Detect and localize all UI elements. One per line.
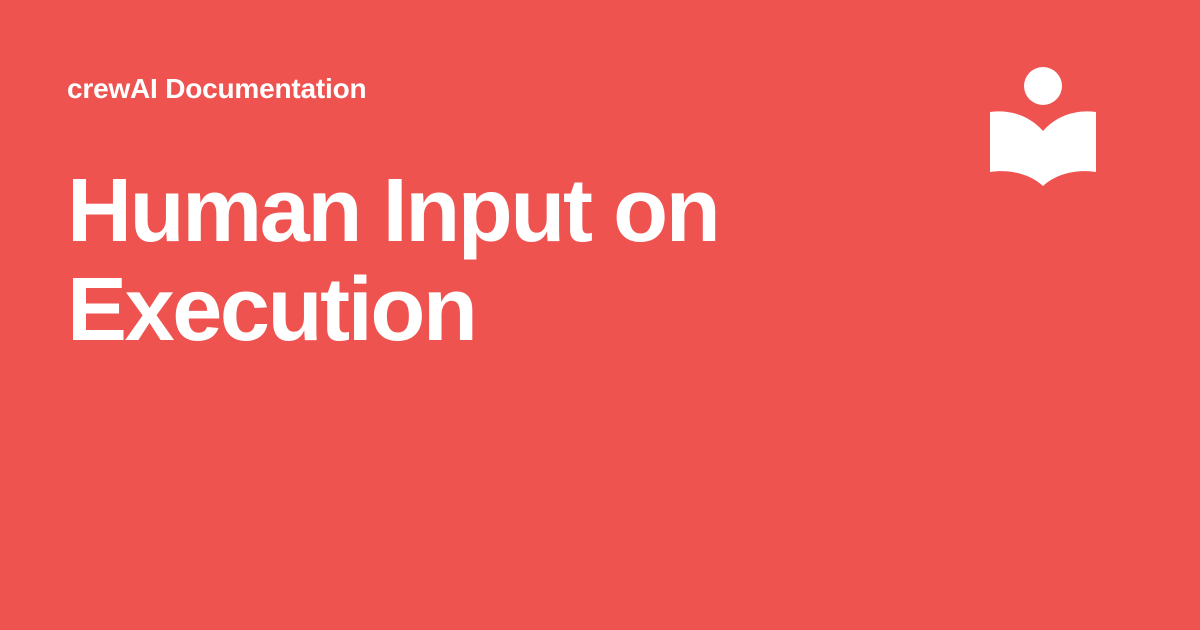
- site-name: crewAI Documentation: [67, 72, 366, 106]
- card-content: crewAI Documentation Human Input on Exec…: [67, 0, 927, 630]
- og-card: crewAI Documentation Human Input on Exec…: [0, 0, 1200, 630]
- open-book-reader-icon: [988, 64, 1100, 188]
- page-title: Human Input on Execution: [67, 162, 807, 360]
